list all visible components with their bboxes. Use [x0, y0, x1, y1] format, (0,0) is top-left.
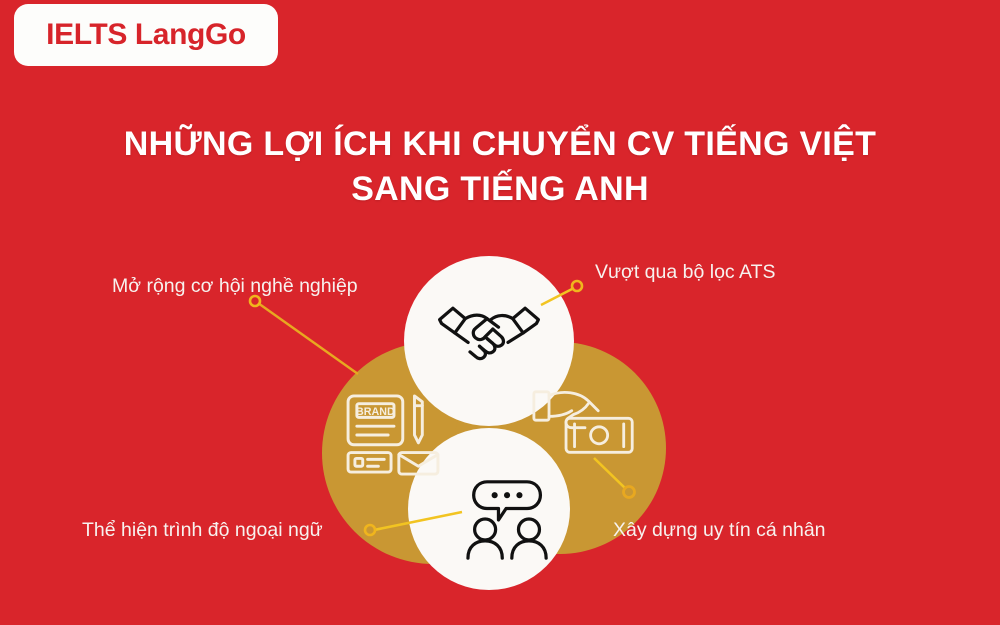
benefit-label-career: Mở rộng cơ hội nghề nghiệp — [112, 275, 358, 298]
connector-dot-language — [365, 525, 375, 535]
connector-line-ats — [541, 288, 574, 305]
connector-line-trust — [594, 458, 626, 489]
benefit-label-trust: Xây dựng uy tín cá nhân — [613, 519, 826, 542]
connector-dot-trust — [624, 487, 635, 498]
connector-line-language — [374, 512, 462, 530]
benefit-label-language: Thể hiện trình độ ngoại ngữ — [82, 519, 323, 542]
benefit-label-ats: Vượt qua bộ lọc ATS — [595, 261, 776, 284]
infographic-canvas: IELTS LangGo NHỮNG LỢI ÍCH KHI CHUYỂN CV… — [0, 0, 1000, 625]
connector-dot-ats — [572, 281, 582, 291]
connector-line-career — [258, 303, 358, 374]
